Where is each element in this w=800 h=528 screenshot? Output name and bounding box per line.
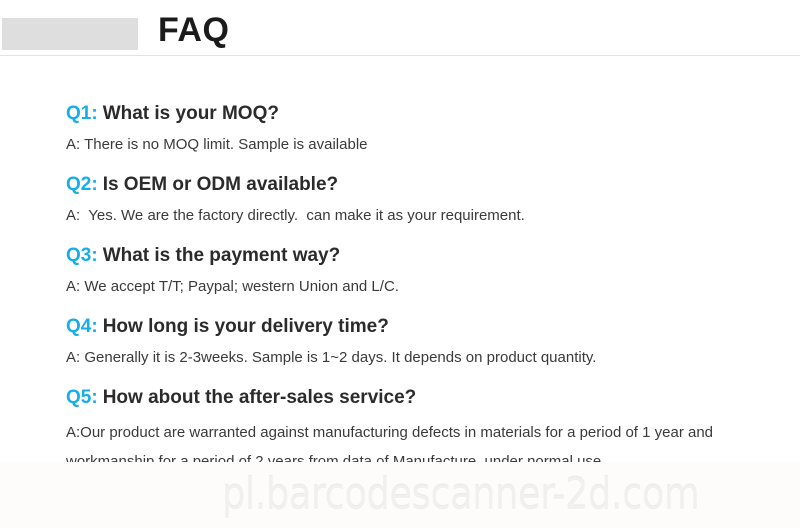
page-header: FAQ xyxy=(0,0,800,56)
page-title: FAQ xyxy=(158,8,229,52)
header-placeholder-block xyxy=(2,18,138,50)
faq-question-4: Q4:How long is your delivery time? xyxy=(66,315,596,338)
faq-answer-4: A: Generally it is 2-3weeks. Sample is 1… xyxy=(66,338,596,368)
faq-question-3: Q3:What is the payment way? xyxy=(66,244,399,267)
faq-question-label-3: Q3: xyxy=(66,245,98,266)
faq-question-label-5: Q5: xyxy=(66,387,98,408)
faq-question-5: Q5:How about the after-sales service? xyxy=(66,386,746,409)
faq-question-2: Q2:Is OEM or ODM available? xyxy=(66,173,525,196)
faq-question-label-1: Q1: xyxy=(66,103,98,124)
faq-question-text-5: How about the after-sales service? xyxy=(103,387,417,408)
faq-question-text-2: Is OEM or ODM available? xyxy=(103,174,338,195)
faq-item-1: Q1:What is your MOQ? A: There is no MOQ … xyxy=(0,102,368,155)
header-divider xyxy=(0,55,800,56)
faq-item-2: Q2:Is OEM or ODM available? A: Yes. We a… xyxy=(0,173,525,226)
site-watermark: pl.barcodescanner-2d.com xyxy=(222,470,699,520)
faq-question-text-1: What is your MOQ? xyxy=(103,103,279,124)
faq-question-label-4: Q4: xyxy=(66,316,98,337)
faq-answer-1: A: There is no MOQ limit. Sample is avai… xyxy=(66,125,368,155)
faq-item-4: Q4:How long is your delivery time? A: Ge… xyxy=(0,315,596,368)
faq-question-1: Q1:What is your MOQ? xyxy=(66,102,368,125)
faq-question-text-4: How long is your delivery time? xyxy=(103,316,389,337)
faq-item-3: Q3:What is the payment way? A: We accept… xyxy=(0,244,399,297)
faq-question-text-3: What is the payment way? xyxy=(103,245,341,266)
faq-answer-2: A: Yes. We are the factory directly. can… xyxy=(66,196,525,226)
faq-question-label-2: Q2: xyxy=(66,174,98,195)
faq-answer-3: A: We accept T/T; Paypal; western Union … xyxy=(66,267,399,297)
